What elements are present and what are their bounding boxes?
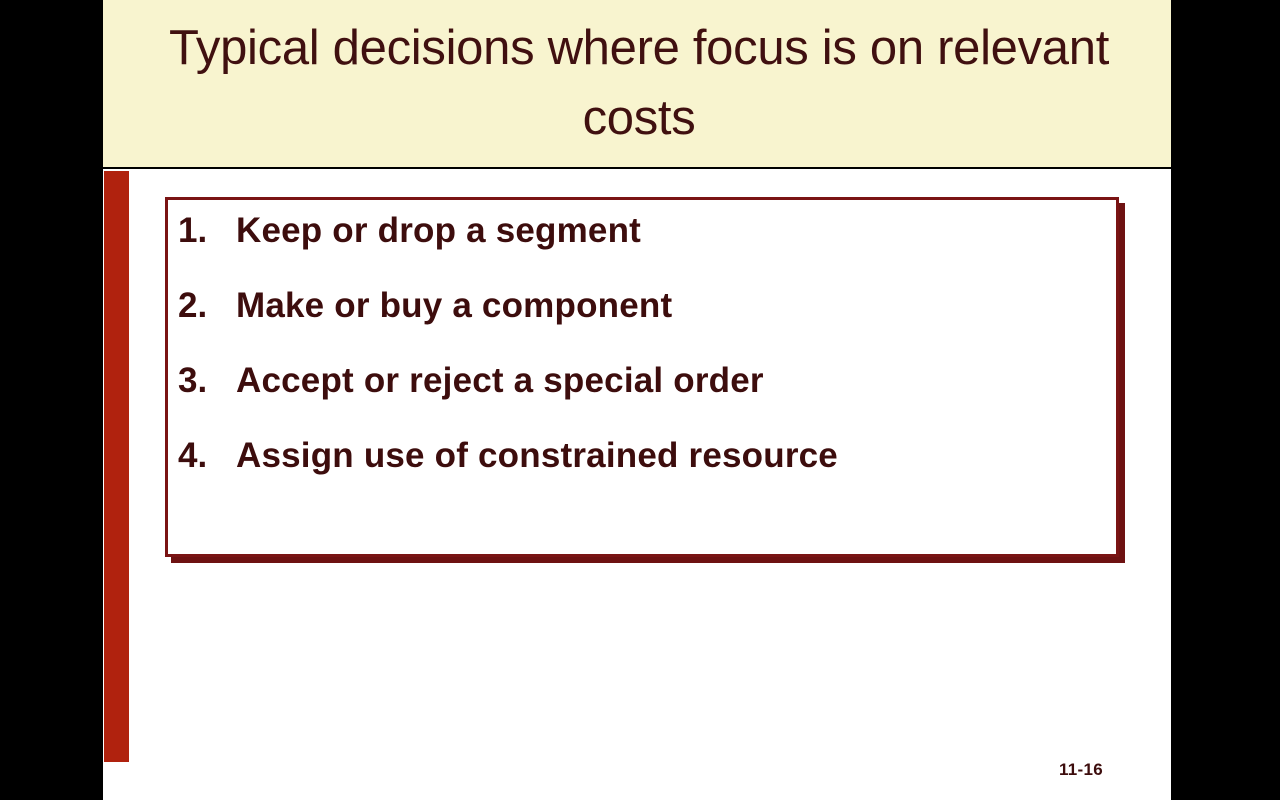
list-item: 3. Accept or reject a special order xyxy=(168,363,1116,398)
title-banner: Typical decisions where focus is on rele… xyxy=(103,0,1171,169)
list-item-label: Make or buy a component xyxy=(236,288,1116,323)
list-item: 1. Keep or drop a segment xyxy=(168,213,1116,248)
list-item-label: Keep or drop a segment xyxy=(236,213,1116,248)
list-item-number: 1. xyxy=(178,213,236,248)
list-item: 4. Assign use of constrained resource xyxy=(168,438,1116,473)
decision-list: 1. Keep or drop a segment 2. Make or buy… xyxy=(168,200,1116,473)
left-accent-bar xyxy=(104,171,129,762)
decision-list-panel: 1. Keep or drop a segment 2. Make or buy… xyxy=(165,197,1125,563)
slide-frame: Typical decisions where focus is on rele… xyxy=(0,0,1280,800)
list-item-number: 2. xyxy=(178,288,236,323)
slide-title: Typical decisions where focus is on rele… xyxy=(135,14,1139,153)
list-item-number: 4. xyxy=(178,438,236,473)
slide-number: 11-16 xyxy=(1059,760,1103,780)
list-item: 2. Make or buy a component xyxy=(168,288,1116,323)
list-item-number: 3. xyxy=(178,363,236,398)
list-item-label: Assign use of constrained resource xyxy=(236,438,1116,473)
list-item-label: Accept or reject a special order xyxy=(236,363,1116,398)
slide-canvas: Typical decisions where focus is on rele… xyxy=(103,0,1171,800)
decision-list-box: 1. Keep or drop a segment 2. Make or buy… xyxy=(165,197,1119,557)
